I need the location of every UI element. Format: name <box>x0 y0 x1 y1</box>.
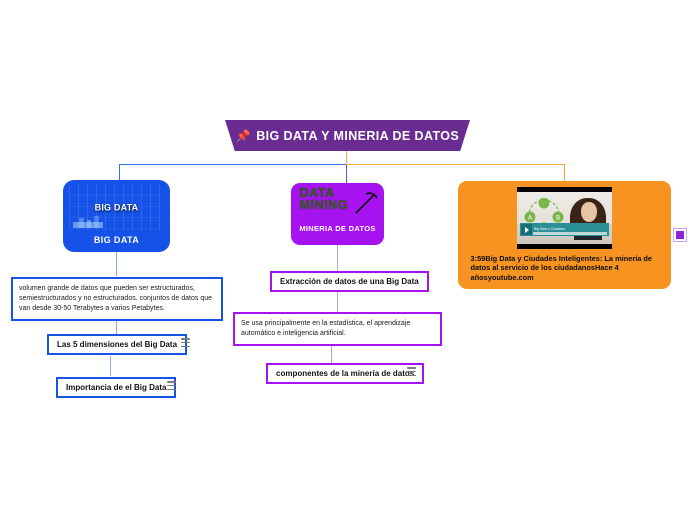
node-definicion-big-data[interactable]: volumen grande de datos que pueden ser e… <box>11 277 223 321</box>
lower-third-bar <box>533 232 607 235</box>
node-componentes-label: componentes de la minería de datos <box>276 369 414 378</box>
node-importancia-big-data[interactable]: Importancia de el Big Data <box>56 377 176 398</box>
presenter-face <box>581 202 597 222</box>
video-lower-third: Big Data y Ciudades <box>520 223 609 236</box>
attachment-badge-glyph <box>676 231 684 239</box>
node-definicion-text: volumen grande de datos que pueden ser e… <box>19 285 212 312</box>
connector-bd-1 <box>116 252 117 276</box>
thumbnail-label: BIG DATA <box>95 203 139 212</box>
node-cinco-dimensiones[interactable]: Las 5 dimensiones del Big Data <box>47 334 187 355</box>
connector-right-drop <box>564 164 565 182</box>
node-big-data-label: BIG DATA <box>94 235 139 245</box>
node-importancia-label: Importancia de el Big Data <box>66 383 166 392</box>
data-mining-art-text: DATA MINING <box>300 188 349 212</box>
node-usos-text: Se usa principalmente en la estadística,… <box>241 320 410 337</box>
node-cinco-dimensiones-label: Las 5 dimensiones del Big Data <box>57 340 177 349</box>
attachment-badge[interactable] <box>673 228 687 242</box>
node-video-card[interactable]: A B Big Data y Ciudades 3:59Big Data y C… <box>458 181 671 289</box>
note-icon-componentes[interactable] <box>407 367 416 376</box>
data-mining-artwork: DATA MINING <box>296 188 380 222</box>
node-componentes-mineria[interactable]: componentes de la minería de datos <box>266 363 424 384</box>
connector-root-stem <box>346 151 347 164</box>
svg-text:B: B <box>556 215 560 222</box>
video-meta-text: 3:59Big Data y Ciudades Inteligentes: La… <box>466 254 664 282</box>
node-extraccion-label: Extracción de datos de una Big Data <box>280 277 419 286</box>
play-icon[interactable] <box>521 224 532 235</box>
node-extraccion-datos[interactable]: Extracción de datos de una Big Data <box>270 271 429 292</box>
art-line-2: MINING <box>300 200 349 212</box>
node-mineria-datos[interactable]: DATA MINING MINERIA DE DATOS <box>291 183 384 245</box>
node-usos-mineria[interactable]: Se usa principalmente en la estadística,… <box>233 312 442 346</box>
connector-dm-2 <box>337 292 338 312</box>
node-big-data[interactable]: BIG DATA BIG DATA <box>63 180 170 252</box>
lower-third-text: Big Data y Ciudades <box>534 228 565 232</box>
city-skyline-icon <box>73 214 103 228</box>
root-title: BIG DATA Y MINERIA DE DATOS <box>256 129 459 143</box>
connector-bd-3 <box>110 356 111 376</box>
connector-spine-left <box>119 164 347 165</box>
connector-center-drop <box>346 164 347 184</box>
node-mineria-datos-label: MINERIA DE DATOS <box>299 224 375 233</box>
big-data-thumbnail: BIG DATA <box>69 185 164 230</box>
connector-spine-right <box>346 164 565 165</box>
pushpin-icon: 📌 <box>236 129 251 143</box>
pickaxe-icon <box>353 191 379 217</box>
note-icon-importancia[interactable] <box>167 381 176 390</box>
root-node[interactable]: 📌 BIG DATA Y MINERIA DE DATOS <box>225 120 470 151</box>
connector-dm-1 <box>337 245 338 271</box>
video-frame: A B Big Data y Ciudades <box>517 192 612 244</box>
mindmap-canvas: 📌 BIG DATA Y MINERIA DE DATOS BIG DATA B… <box>0 0 696 520</box>
note-icon-cinco-dimensiones[interactable] <box>181 338 190 347</box>
video-thumbnail[interactable]: A B Big Data y Ciudades <box>517 187 612 249</box>
